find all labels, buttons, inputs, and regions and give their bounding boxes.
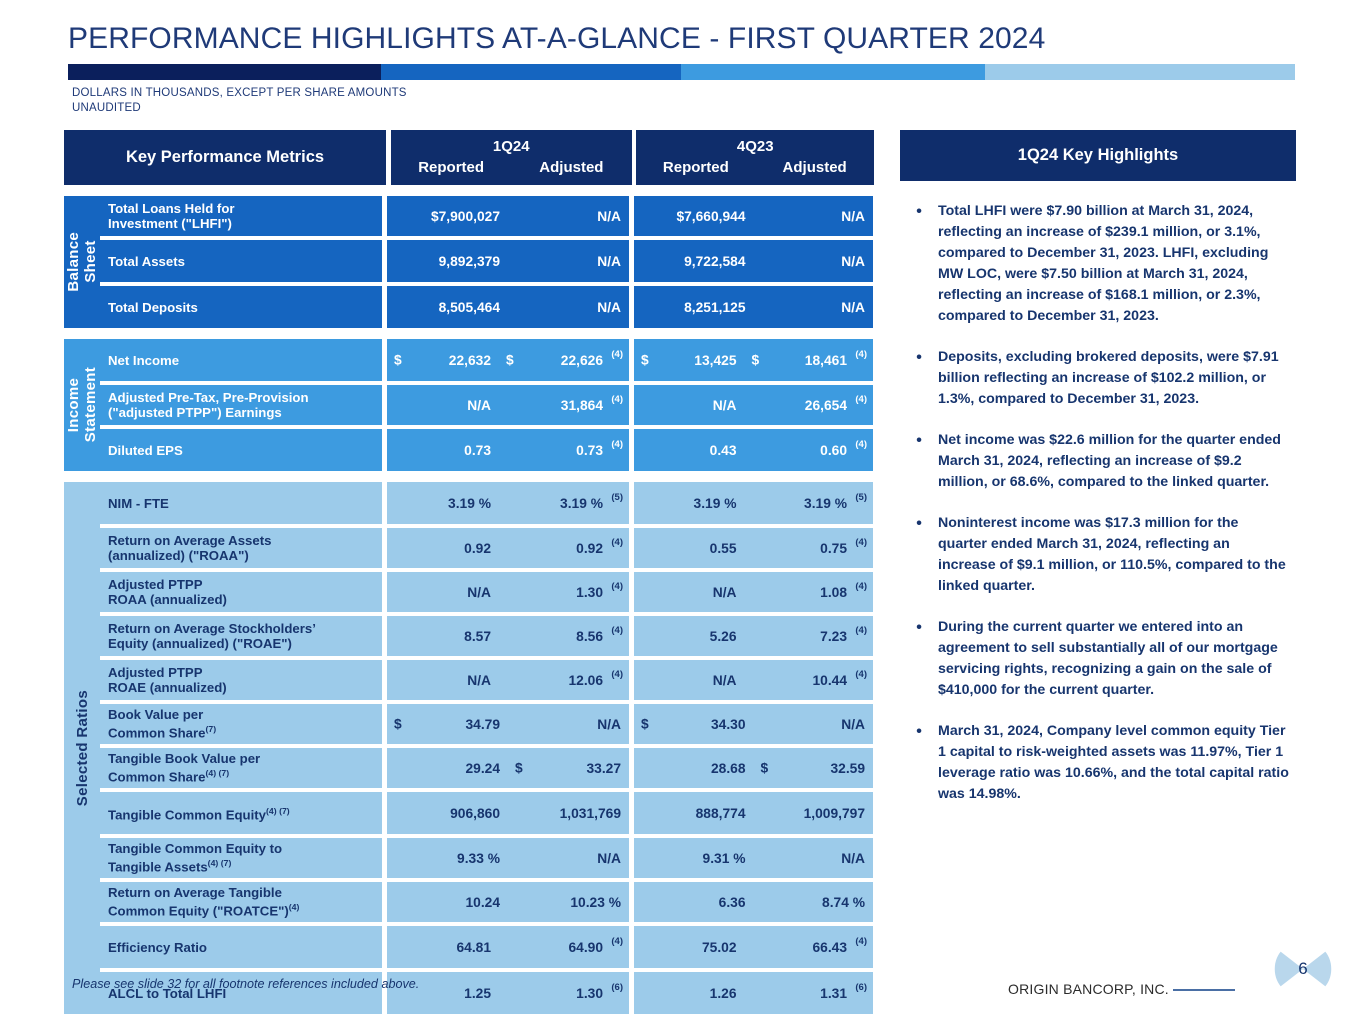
- value-group-4q23: N/A10.44(4): [634, 660, 873, 700]
- table-row: Adjusted PTPPROAE (annualized)N/A12.06(4…: [100, 660, 874, 700]
- cell-adjusted: 1.08(4): [745, 572, 874, 612]
- cell-footnote: (4): [611, 537, 623, 548]
- section-tab-label: Income Statement: [64, 339, 100, 471]
- highlight-item: •March 31, 2024, Company level common eq…: [900, 721, 1296, 805]
- cell-adjusted: 8.74 %: [754, 882, 874, 922]
- currency-symbol: $: [761, 761, 769, 776]
- cell-footnote: (4): [855, 669, 867, 680]
- cell-adjusted: N/A: [754, 838, 874, 878]
- cell-value: 888,774: [696, 806, 746, 821]
- cell-value: N/A: [713, 585, 737, 600]
- cell-reported: N/A: [387, 385, 499, 425]
- bullet-icon: •: [900, 617, 938, 701]
- cell-value: 8,505,464: [439, 300, 500, 315]
- cell-adjusted: $18,461(4): [745, 339, 874, 381]
- bullet-icon: •: [900, 721, 938, 805]
- metric-label: Return on Average Assets(annualized) ("R…: [100, 528, 382, 568]
- cell-adjusted: 1.31(6): [745, 972, 874, 1014]
- cell-value: $7,660,944: [676, 209, 745, 224]
- cell-value: 1.30: [576, 585, 603, 600]
- table-row: Tangible Book Value perCommon Share(4) (…: [100, 748, 874, 788]
- value-group-1q24: $22,632$22,626(4): [387, 339, 629, 381]
- value-group-1q24: 8.578.56(4): [387, 616, 629, 656]
- subheader-4q23-reported: Reported: [636, 157, 755, 179]
- cell-value: 6.36: [719, 895, 746, 910]
- metric-label: Total Assets: [100, 240, 382, 282]
- highlight-text: Net income was $22.6 million for the qua…: [938, 430, 1296, 493]
- cell-reported: 6.36: [634, 882, 754, 922]
- cell-adjusted: 10.23 %: [508, 882, 629, 922]
- cell-reported: 906,860: [387, 792, 508, 834]
- units-line-2: UNAUDITED: [72, 101, 407, 116]
- cell-value: 0.60: [820, 443, 847, 458]
- metric-label: Total Deposits: [100, 286, 382, 328]
- cell-value: N/A: [467, 585, 491, 600]
- highlights-title: 1Q24 Key Highlights: [900, 130, 1296, 181]
- cell-reported: N/A: [634, 660, 745, 700]
- company-name-text: ORIGIN BANCORP, INC.: [1008, 981, 1169, 997]
- cell-adjusted: 3.19 %(5): [499, 482, 629, 524]
- table-header-group-1q24: 1Q24 Reported Adjusted: [391, 130, 632, 185]
- cell-adjusted: N/A: [754, 286, 874, 328]
- company-rule: [1173, 989, 1235, 991]
- table-row: Total Assets9,892,379N/A9,722,584N/A: [100, 240, 874, 282]
- cell-reported: 8,251,125: [634, 286, 754, 328]
- value-group-4q23: 888,7741,009,797: [634, 792, 873, 834]
- color-bar-segment-2: [381, 64, 682, 80]
- cell-value: N/A: [467, 398, 491, 413]
- cell-value: 0.75: [820, 541, 847, 556]
- cell-reported: 64.81: [387, 926, 499, 968]
- key-highlights-panel: 1Q24 Key Highlights •Total LHFI were $7.…: [900, 130, 1296, 825]
- color-bar-segment-4: [985, 64, 1295, 80]
- cell-value: 0.92: [576, 541, 603, 556]
- value-group-4q23: 28.68$32.59: [634, 748, 873, 788]
- cell-footnote: (4): [855, 394, 867, 405]
- cell-adjusted: 1,009,797: [754, 792, 874, 834]
- value-group-4q23: 9,722,584N/A: [634, 240, 873, 282]
- cell-value: 1,009,797: [804, 806, 865, 821]
- cell-value: N/A: [597, 717, 621, 732]
- cell-value: 13,425: [694, 353, 736, 368]
- table-section: Balance SheetTotal Loans Held forInvestm…: [64, 196, 874, 328]
- cell-footnote: (5): [611, 492, 623, 503]
- cell-footnote: (4): [855, 537, 867, 548]
- subheader-1q24-adjusted: Adjusted: [511, 157, 631, 179]
- cell-value: N/A: [841, 717, 865, 732]
- cell-reported: 9.31 %: [634, 838, 754, 878]
- cell-value: 1.30: [576, 986, 603, 1001]
- cell-value: 0.73: [576, 443, 603, 458]
- cell-value: 0.73: [464, 443, 491, 458]
- value-group-1q24: 906,8601,031,769: [387, 792, 629, 834]
- value-group-1q24: 0.920.92(4): [387, 528, 629, 568]
- value-group-4q23: $13,425$18,461(4): [634, 339, 873, 381]
- metric-label-footnote: (4): [289, 902, 300, 912]
- cell-value: 8.74 %: [822, 895, 865, 910]
- table-sections: Balance SheetTotal Loans Held forInvestm…: [64, 196, 874, 1014]
- cell-value: 32.59: [830, 761, 865, 776]
- value-group-4q23: 0.430.60(4): [634, 429, 873, 471]
- cell-reported: 10.24: [387, 882, 508, 922]
- value-group-4q23: N/A1.08(4): [634, 572, 873, 612]
- value-group-4q23: 75.0266.43(4): [634, 926, 873, 968]
- value-group-1q24: 29.24$33.27: [387, 748, 629, 788]
- bullet-icon: •: [900, 513, 938, 597]
- value-group-4q23: 3.19 %3.19 %(5): [634, 482, 873, 524]
- metric-label: Book Value perCommon Share(7): [100, 704, 382, 744]
- cell-reported: 3.19 %: [387, 482, 499, 524]
- metric-label: Return on Average TangibleCommon Equity …: [100, 882, 382, 922]
- cell-adjusted: 8.56(4): [499, 616, 629, 656]
- cell-value: 10.24: [465, 895, 500, 910]
- cell-value: N/A: [597, 300, 621, 315]
- cell-value: 1.08: [820, 585, 847, 600]
- cell-footnote: (4): [611, 669, 623, 680]
- cell-reported: 3.19 %: [634, 482, 745, 524]
- cell-value: 22,626: [561, 353, 603, 368]
- cell-footnote: (4): [611, 394, 623, 405]
- cell-reported: 9,722,584: [634, 240, 754, 282]
- cell-adjusted: 7.23(4): [745, 616, 874, 656]
- value-group-1q24: 3.19 %3.19 %(5): [387, 482, 629, 524]
- highlight-text: Deposits, excluding brokered deposits, w…: [938, 347, 1296, 410]
- cell-adjusted: 0.73(4): [499, 429, 629, 471]
- cell-value: 28.68: [711, 761, 746, 776]
- value-group-1q24: 9.33 %N/A: [387, 838, 629, 878]
- section-rows: Total Loans Held forInvestment ("LHFI")$…: [100, 196, 874, 328]
- units-note: DOLLARS IN THOUSANDS, EXCEPT PER SHARE A…: [72, 86, 407, 116]
- highlight-item: •During the current quarter we entered i…: [900, 617, 1296, 701]
- cell-value: 34.79: [465, 717, 500, 732]
- cell-value: 66.43: [812, 940, 847, 955]
- value-group-4q23: 8,251,125N/A: [634, 286, 873, 328]
- cell-value: N/A: [597, 209, 621, 224]
- value-group-4q23: 5.267.23(4): [634, 616, 873, 656]
- cell-value: 26,654: [805, 398, 847, 413]
- section-tab-text: Selected Ratios: [74, 690, 91, 806]
- subheader-1q24-reported: Reported: [391, 157, 511, 179]
- section-rows: Net Income$22,632$22,626(4)$13,425$18,46…: [100, 339, 874, 471]
- bullet-icon: •: [900, 347, 938, 410]
- cell-value: 8.57: [464, 629, 491, 644]
- units-line-1: DOLLARS IN THOUSANDS, EXCEPT PER SHARE A…: [72, 86, 407, 101]
- metric-label-footnote: (7): [205, 724, 216, 734]
- currency-symbol: $: [515, 761, 523, 776]
- company-name: ORIGIN BANCORP, INC.: [1008, 981, 1235, 997]
- cell-value: 29.24: [465, 761, 500, 776]
- cell-value: N/A: [597, 254, 621, 269]
- cell-reported: $7,660,944: [634, 196, 754, 236]
- cell-value: N/A: [841, 300, 865, 315]
- table-row: Book Value perCommon Share(7)$34.79N/A$3…: [100, 704, 874, 744]
- subheader-4q23-adjusted: Adjusted: [755, 157, 874, 179]
- cell-footnote: (4): [611, 439, 623, 450]
- cell-reported: 9.33 %: [387, 838, 508, 878]
- metric-label: Tangible Common Equity(4) (7): [100, 792, 382, 834]
- metric-label: Tangible Common Equity toTangible Assets…: [100, 838, 382, 878]
- cell-value: 9,892,379: [439, 254, 500, 269]
- cell-adjusted: $22,626(4): [499, 339, 629, 381]
- cell-adjusted: 66.43(4): [745, 926, 874, 968]
- highlight-item: •Total LHFI were $7.90 billion at March …: [900, 201, 1296, 327]
- cell-value: N/A: [713, 398, 737, 413]
- cell-reported: N/A: [634, 572, 745, 612]
- cell-footnote: (6): [855, 982, 867, 993]
- accent-color-bar: [68, 64, 1295, 80]
- cell-value: N/A: [597, 851, 621, 866]
- cell-reported: 888,774: [634, 792, 754, 834]
- table-header-group-4q23: 4Q23 Reported Adjusted: [636, 130, 874, 185]
- cell-adjusted: $33.27: [508, 748, 629, 788]
- cell-adjusted: 26,654(4): [745, 385, 874, 425]
- cell-value: N/A: [713, 673, 737, 688]
- cell-reported: N/A: [387, 572, 499, 612]
- cell-value: 1,031,769: [560, 806, 621, 821]
- table-header-metrics: Key Performance Metrics: [64, 130, 386, 185]
- cell-reported: 9,892,379: [387, 240, 508, 282]
- cell-value: 64.81: [456, 940, 491, 955]
- metric-label: NIM - FTE: [100, 482, 382, 524]
- cell-value: 3.19 %: [804, 496, 847, 511]
- metric-label: Adjusted Pre-Tax, Pre-Provision("adjuste…: [100, 385, 382, 425]
- table-row: Return on Average TangibleCommon Equity …: [100, 882, 874, 922]
- color-bar-segment-3: [681, 64, 984, 80]
- value-group-4q23: 9.31 %N/A: [634, 838, 873, 878]
- table-section: Income StatementNet Income$22,632$22,626…: [64, 339, 874, 471]
- section-tab-text: Income Statement: [65, 367, 99, 442]
- cell-value: 10.44: [812, 673, 847, 688]
- cell-footnote: (4): [611, 936, 623, 947]
- cell-value: 7.23: [820, 629, 847, 644]
- cell-reported: $13,425: [634, 339, 745, 381]
- value-group-1q24: $34.79N/A: [387, 704, 629, 744]
- cell-reported: 5.26: [634, 616, 745, 656]
- value-group-1q24: N/A12.06(4): [387, 660, 629, 700]
- cell-adjusted: N/A: [754, 704, 874, 744]
- cell-reported: 0.73: [387, 429, 499, 471]
- slide-canvas: PERFORMANCE HIGHLIGHTS AT-A-GLANCE - FIR…: [0, 0, 1365, 1024]
- cell-value: 3.19 %: [448, 496, 491, 511]
- currency-symbol: $: [641, 353, 649, 368]
- cell-footnote: (4): [611, 581, 623, 592]
- bullet-icon: •: [900, 201, 938, 327]
- cell-value: 34.30: [711, 717, 746, 732]
- page-number: 6: [1272, 938, 1334, 1000]
- value-group-1q24: 64.8164.90(4): [387, 926, 629, 968]
- cell-footnote: (5): [855, 492, 867, 503]
- cell-value: 1.26: [710, 986, 737, 1001]
- cell-value: $7,900,027: [431, 209, 500, 224]
- cell-value: 12.06: [568, 673, 603, 688]
- cell-value: 0.55: [710, 541, 737, 556]
- metric-label: Return on Average Stockholders’Equity (a…: [100, 616, 382, 656]
- table-row: Diluted EPS0.730.73(4)0.430.60(4): [100, 429, 874, 471]
- table-row: NIM - FTE3.19 %3.19 %(5)3.19 %3.19 %(5): [100, 482, 874, 524]
- value-group-1q24: 10.2410.23 %: [387, 882, 629, 922]
- metric-label: Efficiency Ratio: [100, 926, 382, 968]
- cell-adjusted: $32.59: [754, 748, 874, 788]
- value-group-1q24: 8,505,464N/A: [387, 286, 629, 328]
- cell-value: 906,860: [450, 806, 500, 821]
- cell-reported: 8.57: [387, 616, 499, 656]
- table-row: Adjusted Pre-Tax, Pre-Provision("adjuste…: [100, 385, 874, 425]
- cell-adjusted: 0.60(4): [745, 429, 874, 471]
- cell-footnote: (4): [611, 625, 623, 636]
- section-tab-label: Selected Ratios: [64, 482, 100, 1014]
- currency-symbol: $: [752, 353, 760, 368]
- cell-footnote: (4): [611, 349, 623, 360]
- page-title: PERFORMANCE HIGHLIGHTS AT-A-GLANCE - FIR…: [68, 22, 1045, 56]
- cell-adjusted: 0.75(4): [745, 528, 874, 568]
- cell-value: 1.25: [464, 986, 491, 1001]
- cell-reported: 0.92: [387, 528, 499, 568]
- highlights-list: •Total LHFI were $7.90 billion at March …: [900, 201, 1296, 805]
- cell-reported: 28.68: [634, 748, 754, 788]
- cell-value: 33.27: [586, 761, 621, 776]
- metric-label-footnote: (4) (7): [266, 806, 290, 816]
- metric-label-footnote: (4) (7): [205, 768, 229, 778]
- section-rows: NIM - FTE3.19 %3.19 %(5)3.19 %3.19 %(5)R…: [100, 482, 874, 1014]
- value-group-4q23: N/A26,654(4): [634, 385, 873, 425]
- metric-label: Adjusted PTPPROAE (annualized): [100, 660, 382, 700]
- cell-value: N/A: [467, 673, 491, 688]
- highlight-item: •Noninterest income was $17.3 million fo…: [900, 513, 1296, 597]
- cell-value: 64.90: [568, 940, 603, 955]
- value-group-4q23: 6.368.74 %: [634, 882, 873, 922]
- metric-label: Total Loans Held forInvestment ("LHFI"): [100, 196, 382, 236]
- highlight-item: •Deposits, excluding brokered deposits, …: [900, 347, 1296, 410]
- cell-footnote: (4): [855, 625, 867, 636]
- table-row: Efficiency Ratio64.8164.90(4)75.0266.43(…: [100, 926, 874, 968]
- highlight-text: During the current quarter we entered in…: [938, 617, 1296, 701]
- value-group-1q24: N/A1.30(4): [387, 572, 629, 612]
- cell-value: 31,864: [561, 398, 603, 413]
- cell-value: 9.33 %: [457, 851, 500, 866]
- table-row: Adjusted PTPPROAA (annualized)N/A1.30(4)…: [100, 572, 874, 612]
- cell-adjusted: N/A: [508, 240, 629, 282]
- cell-footnote: (4): [855, 349, 867, 360]
- cell-reported: $34.30: [634, 704, 754, 744]
- cell-reported: 8,505,464: [387, 286, 508, 328]
- cell-adjusted: N/A: [508, 196, 629, 236]
- cell-value: 9,722,584: [684, 254, 745, 269]
- highlight-item: •Net income was $22.6 million for the qu…: [900, 430, 1296, 493]
- cell-reported: $34.79: [387, 704, 508, 744]
- currency-symbol: $: [506, 353, 514, 368]
- metric-label: Net Income: [100, 339, 382, 381]
- cell-reported: $22,632: [387, 339, 499, 381]
- value-group-4q23: $34.30N/A: [634, 704, 873, 744]
- cell-reported: 75.02: [634, 926, 745, 968]
- cell-value: 22,632: [449, 353, 491, 368]
- value-group-1q24: 9,892,379N/A: [387, 240, 629, 282]
- cell-value: N/A: [841, 209, 865, 224]
- cell-value: 10.23 %: [570, 895, 621, 910]
- cell-adjusted: N/A: [508, 286, 629, 328]
- slide-footnote: Please see slide 32 for all footnote ref…: [72, 977, 419, 991]
- cell-reported: 0.43: [634, 429, 745, 471]
- cell-reported: N/A: [387, 660, 499, 700]
- metric-label: Tangible Book Value perCommon Share(4) (…: [100, 748, 382, 788]
- table-row: Total Loans Held forInvestment ("LHFI")$…: [100, 196, 874, 236]
- cell-reported: 0.55: [634, 528, 745, 568]
- metric-label-footnote: (4) (7): [208, 858, 232, 868]
- table-row: Return on Average Stockholders’Equity (a…: [100, 616, 874, 656]
- table-row: Net Income$22,632$22,626(4)$13,425$18,46…: [100, 339, 874, 381]
- currency-symbol: $: [394, 717, 402, 732]
- value-group-1q24: 0.730.73(4): [387, 429, 629, 471]
- table-row: Tangible Common Equity(4) (7)906,8601,03…: [100, 792, 874, 834]
- cell-reported: 1.26: [634, 972, 745, 1014]
- cell-value: 3.19 %: [560, 496, 603, 511]
- color-bar-segment-1: [68, 64, 381, 80]
- cell-value: 1.31: [820, 986, 847, 1001]
- cell-reported: N/A: [634, 385, 745, 425]
- value-group-4q23: $7,660,944N/A: [634, 196, 873, 236]
- cell-footnote: (4): [855, 439, 867, 450]
- cell-value: 8.56: [576, 629, 603, 644]
- highlight-text: Noninterest income was $17.3 million for…: [938, 513, 1296, 597]
- cell-footnote: (4): [855, 581, 867, 592]
- table-row: Tangible Common Equity toTangible Assets…: [100, 838, 874, 878]
- cell-value: N/A: [841, 254, 865, 269]
- section-tab-label: Balance Sheet: [64, 196, 100, 328]
- highlight-text: Total LHFI were $7.90 billion at March 3…: [938, 201, 1296, 327]
- cell-value: 18,461: [805, 353, 847, 368]
- cell-adjusted: 1.30(6): [499, 972, 629, 1014]
- bullet-icon: •: [900, 430, 938, 493]
- table-header-row: Key Performance Metrics 1Q24 Reported Ad…: [64, 130, 874, 185]
- value-group-4q23: 0.550.75(4): [634, 528, 873, 568]
- metric-label: Adjusted PTPPROAA (annualized): [100, 572, 382, 612]
- table-row: Total Deposits8,505,464N/A8,251,125N/A: [100, 286, 874, 328]
- cell-adjusted: 1.30(4): [499, 572, 629, 612]
- currency-symbol: $: [394, 353, 402, 368]
- group-label-4q23: 4Q23: [737, 137, 774, 157]
- cell-adjusted: 10.44(4): [745, 660, 874, 700]
- cell-adjusted: 12.06(4): [499, 660, 629, 700]
- cell-value: 75.02: [702, 940, 737, 955]
- cell-footnote: (6): [611, 982, 623, 993]
- metric-label: Diluted EPS: [100, 429, 382, 471]
- cell-reported: 29.24: [387, 748, 508, 788]
- cell-value: 8,251,125: [684, 300, 745, 315]
- cell-footnote: (4): [855, 936, 867, 947]
- cell-reported: $7,900,027: [387, 196, 508, 236]
- cell-adjusted: 64.90(4): [499, 926, 629, 968]
- cell-adjusted: N/A: [754, 240, 874, 282]
- group-label-1q24: 1Q24: [493, 137, 530, 157]
- cell-value: 0.92: [464, 541, 491, 556]
- cell-adjusted: N/A: [508, 704, 629, 744]
- cell-adjusted: 0.92(4): [499, 528, 629, 568]
- section-tab-text: Balance Sheet: [65, 232, 99, 292]
- table-row: Return on Average Assets(annualized) ("R…: [100, 528, 874, 568]
- cell-value: 9.31 %: [703, 851, 746, 866]
- cell-adjusted: N/A: [508, 838, 629, 878]
- cell-adjusted: N/A: [754, 196, 874, 236]
- cell-value: 0.43: [710, 443, 737, 458]
- key-performance-metrics-table: Key Performance Metrics 1Q24 Reported Ad…: [64, 130, 874, 1014]
- value-group-1q24: N/A31,864(4): [387, 385, 629, 425]
- cell-value: 5.26: [710, 629, 737, 644]
- cell-value: 3.19 %: [694, 496, 737, 511]
- value-group-4q23: 1.261.31(6): [634, 972, 873, 1014]
- currency-symbol: $: [641, 717, 649, 732]
- cell-value: N/A: [841, 851, 865, 866]
- cell-adjusted: 31,864(4): [499, 385, 629, 425]
